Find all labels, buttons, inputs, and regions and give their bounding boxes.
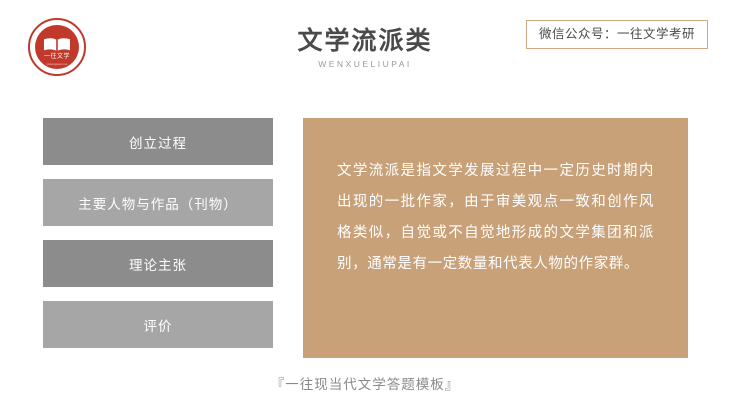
logo-circle: 一往文学 yiwangwenxue <box>35 25 79 69</box>
menu-item-key-figures-works[interactable]: 主要人物与作品（刊物） <box>43 179 273 226</box>
wechat-account-label: 微信公众号：一往文学考研 <box>539 27 695 41</box>
brand-logo: 一往文学 yiwangwenxue <box>28 18 86 76</box>
logo-name-en: yiwangwenxue <box>37 62 77 67</box>
content-paragraph: 文学流派是指文学发展过程中一定历史时期内出现的一批作家，由于审美观点一致和创作风… <box>337 156 654 280</box>
footer-caption: 『一往现当代文学答题模板』 <box>0 377 730 393</box>
content-panel: 文学流派是指文学发展过程中一定历史时期内出现的一批作家，由于审美观点一致和创作风… <box>303 118 688 358</box>
menu-item-evaluation[interactable]: 评价 <box>43 301 273 348</box>
logo-name-cn: 一往文学 <box>35 53 79 61</box>
menu-item-creation-process[interactable]: 创立过程 <box>43 118 273 165</box>
slide-root: 一往文学 yiwangwenxue 文学流派类 WENXUELIUPAI 微信公… <box>0 0 730 411</box>
open-book-icon <box>42 37 72 53</box>
title-pinyin: WENXUELIUPAI <box>0 59 730 69</box>
menu-item-theoretical-claims[interactable]: 理论主张 <box>43 240 273 287</box>
wechat-account-box: 微信公众号：一往文学考研 <box>526 20 708 49</box>
section-menu: 创立过程 主要人物与作品（刊物） 理论主张 评价 <box>43 118 273 362</box>
